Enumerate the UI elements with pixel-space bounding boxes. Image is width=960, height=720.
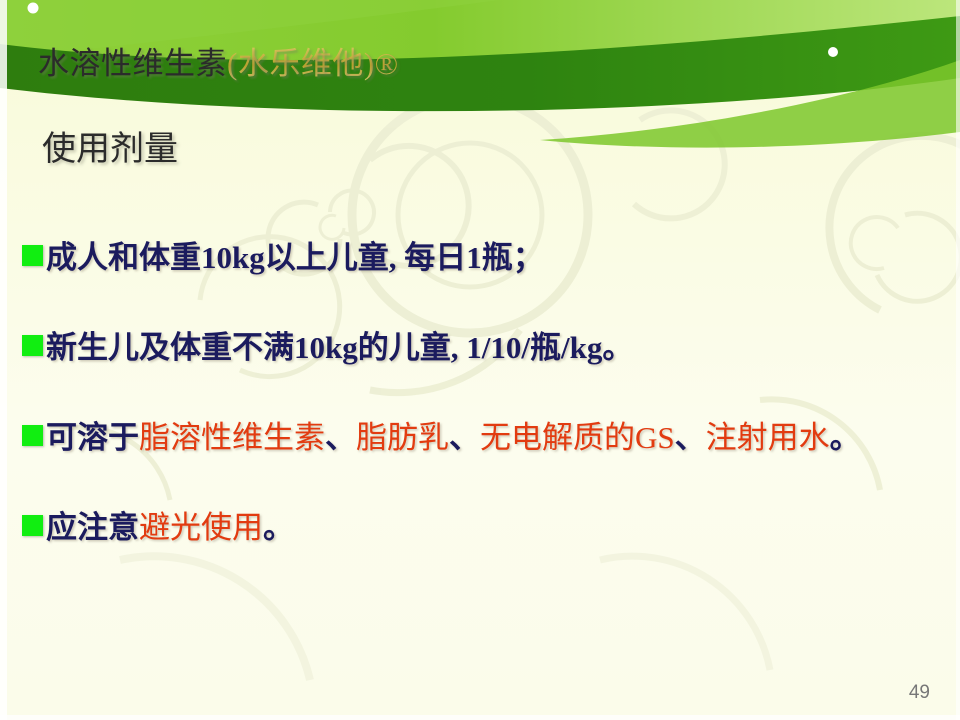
bullet-text-segment: 成人和体重10kg以上儿童, 每日1瓶；	[46, 240, 544, 275]
list-item: 新生儿及体重不满10kg的儿童, 1/10/瓶/kg。	[22, 326, 944, 370]
square-bullet-icon	[22, 515, 43, 536]
bullet-text-segment: 无电解质的GS	[480, 420, 675, 455]
slide-frame-right	[956, 0, 960, 720]
title-brand: (水乐维他)®	[227, 46, 399, 81]
bullet-text-segment: 脂溶性维生素	[139, 420, 325, 455]
square-bullet-icon	[22, 335, 43, 356]
slide-title: 水溶性维生素(水乐维他)®	[38, 45, 399, 83]
list-item: 成人和体重10kg以上儿童, 每日1瓶；	[22, 236, 944, 280]
page-number: 49	[909, 682, 930, 704]
square-bullet-icon	[22, 245, 43, 266]
title-main: 水溶性维生素	[38, 46, 227, 81]
slide-frame-left	[0, 0, 7, 720]
bullet-text-segment: 、	[675, 420, 706, 455]
list-item: 可溶于脂溶性维生素、脂肪乳、无电解质的GS、注射用水。	[22, 416, 944, 460]
bullet-text-segment: 脂肪乳	[356, 420, 449, 455]
bullet-text-segment: 应注意	[46, 510, 139, 545]
slide-frame-bottom	[0, 715, 960, 720]
bullet-text-segment: 。	[263, 510, 294, 545]
bullet-list: 成人和体重10kg以上儿童, 每日1瓶； 新生儿及体重不满10kg的儿童, 1/…	[22, 236, 944, 550]
bullet-text-segment: 、	[449, 420, 480, 455]
bullet-text-segment: 新生儿及体重不满10kg的儿童, 1/10/瓶/kg。	[46, 330, 633, 365]
list-item: 应注意避光使用。	[22, 506, 944, 550]
slide-canvas: 水溶性维生素(水乐维他)® 使用剂量 成人和体重10kg以上儿童, 每日1瓶； …	[0, 0, 960, 720]
bullet-text-segment: 避光使用	[139, 510, 263, 545]
bullet-text-segment: 、	[325, 420, 356, 455]
bullet-text-segment: 注射用水	[706, 420, 830, 455]
slide-subtitle: 使用剂量	[42, 127, 178, 173]
bullet-text-segment: 。	[830, 420, 861, 455]
square-bullet-icon	[22, 425, 43, 446]
bullet-text-segment: 可溶于	[46, 420, 139, 455]
